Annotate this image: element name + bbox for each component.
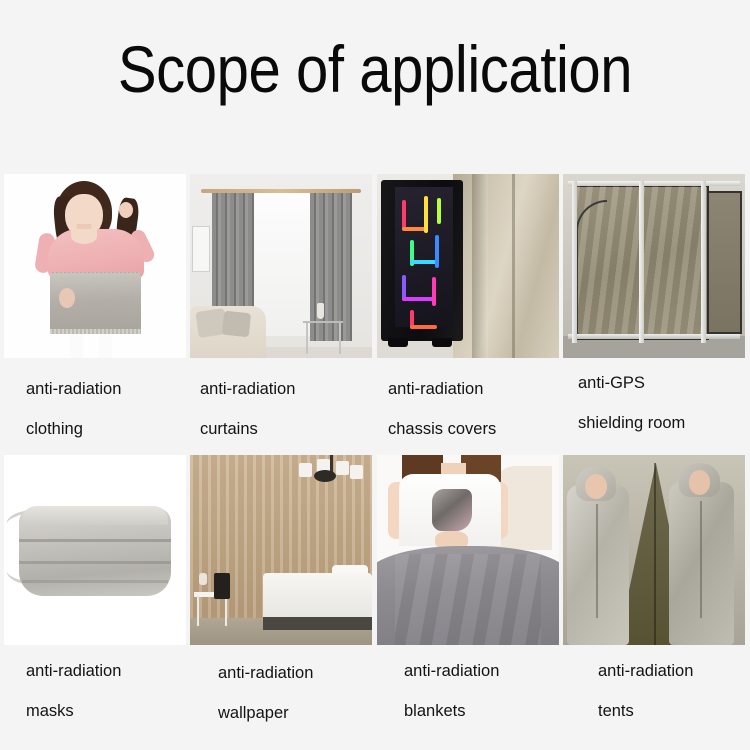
caption-line-2: blankets: [404, 703, 499, 720]
grid-item-anti-radiation-tents[interactable]: [563, 455, 745, 645]
caption-line-2: curtains: [200, 421, 295, 438]
caption-anti-gps-shielding-room: anti-GPS shielding room: [578, 375, 685, 431]
grid-item-anti-radiation-clothing[interactable]: [4, 174, 186, 358]
product-grid: anti-radiation clothing anti-radiation c…: [0, 0, 750, 750]
caption-anti-radiation-curtains: anti-radiation curtains: [200, 381, 295, 437]
caption-anti-radiation-blankets: anti-radiation blankets: [404, 663, 499, 719]
caption-line-2: shielding room: [578, 415, 685, 432]
caption-line-2: tents: [598, 703, 693, 720]
grid-item-anti-radiation-masks[interactable]: [4, 455, 186, 645]
caption-line-2: masks: [26, 703, 121, 720]
caption-anti-radiation-tents: anti-radiation tents: [598, 663, 693, 719]
caption-line-1: anti-radiation: [200, 380, 295, 398]
caption-anti-radiation-wallpaper: anti-radiation wallpaper: [218, 665, 313, 721]
caption-line-1: anti-radiation: [218, 664, 313, 682]
caption-line-1: anti-radiation: [598, 662, 693, 680]
grid-item-anti-radiation-chassis-covers[interactable]: [377, 174, 559, 358]
caption-line-1: anti-radiation: [404, 662, 499, 680]
caption-line-1: anti-radiation: [26, 380, 121, 398]
thumbnail-anti-radiation-tents: [563, 455, 745, 645]
caption-line-2: wallpaper: [218, 705, 313, 722]
grid-item-anti-radiation-curtains[interactable]: [190, 174, 372, 358]
caption-line-2: clothing: [26, 421, 121, 438]
thumbnail-anti-radiation-wallpaper: [190, 455, 372, 645]
caption-line-1: anti-radiation: [388, 380, 483, 398]
grid-item-anti-gps-shielding-room[interactable]: [563, 174, 745, 358]
caption-anti-radiation-chassis-covers: anti-radiation chassis covers: [388, 381, 496, 437]
thumbnail-anti-radiation-masks: [4, 455, 186, 645]
caption-line-2: chassis covers: [388, 421, 496, 438]
caption-anti-radiation-clothing: anti-radiation clothing: [26, 381, 121, 437]
thumbnail-anti-radiation-clothing: [4, 174, 186, 358]
grid-item-anti-radiation-wallpaper[interactable]: [190, 455, 372, 645]
grid-item-anti-radiation-blankets[interactable]: [377, 455, 559, 645]
caption-anti-radiation-masks: anti-radiation masks: [26, 663, 121, 719]
infographic-page: Scope of application anti-radiation clot…: [0, 0, 750, 750]
thumbnail-anti-radiation-blankets: [377, 455, 559, 645]
caption-line-1: anti-GPS: [578, 374, 645, 392]
thumbnail-anti-radiation-curtains: [190, 174, 372, 358]
thumbnail-anti-gps-shielding-room: [563, 174, 745, 358]
caption-line-1: anti-radiation: [26, 662, 121, 680]
thumbnail-anti-radiation-chassis-covers: [377, 174, 559, 358]
